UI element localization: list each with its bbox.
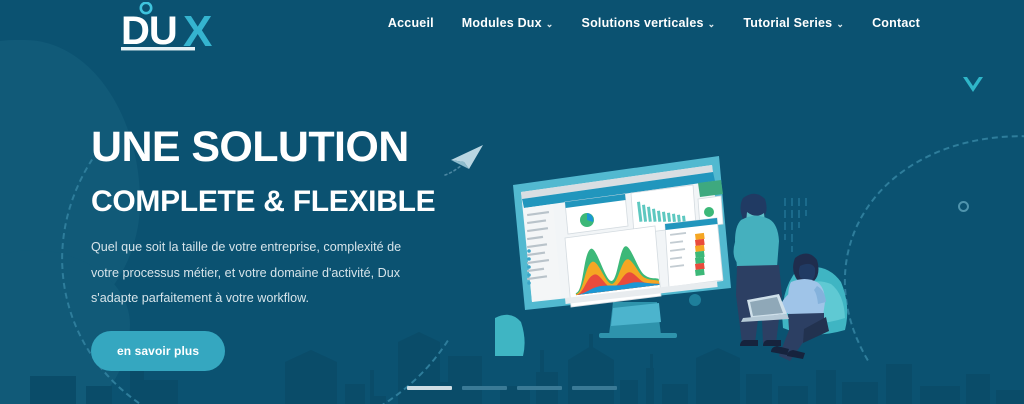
nav-item-label: Accueil: [388, 16, 434, 30]
carousel-indicators[interactable]: [0, 386, 1024, 390]
carousel-indicator-4[interactable]: [572, 386, 617, 390]
hero-illustration: [495, 150, 915, 365]
nav-item-accueil[interactable]: Accueil: [388, 16, 434, 30]
chevron-down-icon: ⌄: [708, 19, 716, 30]
nav-item-solutions-verticales[interactable]: Solutions verticales ⌄: [582, 16, 716, 30]
hero-paragraph: Quel que soit la taille de votre entrepr…: [91, 235, 421, 311]
carousel-indicator-3[interactable]: [517, 386, 562, 390]
chevron-down-icon: ⌄: [546, 19, 554, 30]
page-title: UNE SOLUTION: [91, 126, 491, 170]
nav-item-modules-dux[interactable]: Modules Dux ⌄: [462, 16, 554, 30]
person-standing: [734, 194, 782, 346]
nav-item-label: Solutions verticales: [582, 16, 704, 30]
site-header: DU X Accueil Modules Dux ⌄ Solutions ver…: [0, 0, 1024, 58]
svg-text:DU: DU: [121, 9, 177, 53]
hero-page: DU X Accueil Modules Dux ⌄ Solutions ver…: [0, 0, 1024, 404]
main-navigation[interactable]: Accueil Modules Dux ⌄ Solutions vertical…: [388, 16, 920, 30]
beanbag-partial: [495, 315, 525, 356]
ring-dot-icon: [958, 201, 969, 212]
nav-item-contact[interactable]: Contact: [872, 16, 920, 30]
nav-item-label: Modules Dux: [462, 16, 542, 30]
carousel-indicator-1[interactable]: [407, 386, 452, 390]
nav-item-tutorial-series[interactable]: Tutorial Series ⌄: [743, 16, 844, 30]
nav-item-label: Contact: [872, 16, 920, 30]
carousel-indicator-2[interactable]: [462, 386, 507, 390]
nav-item-label: Tutorial Series: [743, 16, 832, 30]
paper-plane-icon: [443, 139, 489, 179]
triangle-down-icon: [963, 77, 983, 92]
hero-content: UNE SOLUTION COMPLETE & FLEXIBLE Quel qu…: [91, 126, 491, 371]
logo[interactable]: DU X: [113, 2, 231, 56]
chevron-down-icon: ⌄: [836, 19, 844, 30]
page-subtitle: COMPLETE & FLEXIBLE: [91, 186, 491, 218]
learn-more-button[interactable]: en savoir plus: [91, 331, 225, 371]
